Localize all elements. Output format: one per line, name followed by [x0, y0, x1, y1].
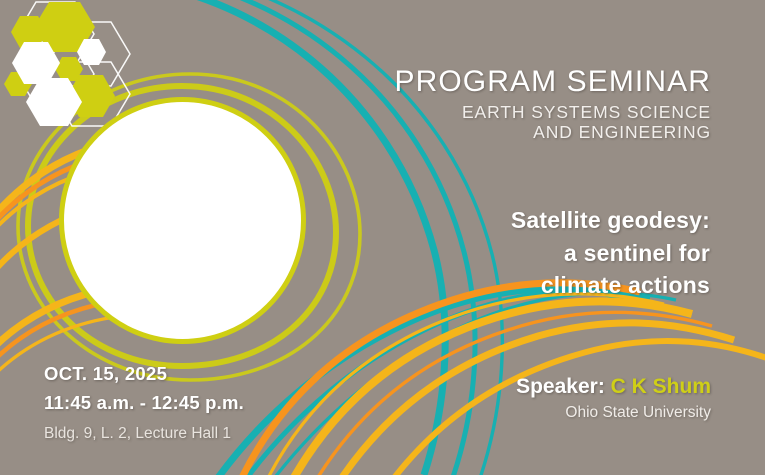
header-block: PROGRAM SEMINAR EARTH SYSTEMS SCIENCE AN…: [291, 66, 711, 142]
department-line-2: AND ENGINEERING: [291, 122, 711, 142]
talk-title-line-2: a sentinel for: [290, 237, 710, 270]
speaker-label: Speaker:: [516, 375, 605, 398]
event-info-block: OCT. 15, 2025 11:45 a.m. - 12:45 p.m. Bl…: [44, 362, 374, 445]
event-date: OCT. 15, 2025: [44, 362, 374, 387]
speaker-name: C K Shum: [611, 375, 711, 398]
department-line-1: EARTH SYSTEMS SCIENCE: [291, 102, 711, 122]
talk-title-block: Satellite geodesy: a sentinel for climat…: [290, 204, 710, 302]
event-time: 11:45 a.m. - 12:45 p.m.: [44, 391, 374, 416]
speaker-portrait-frame: [59, 97, 306, 344]
seminar-poster: PROGRAM SEMINAR EARTH SYSTEMS SCIENCE AN…: [0, 0, 765, 475]
talk-title-line-1: Satellite geodesy:: [290, 204, 710, 237]
portrait-ring: [59, 97, 306, 344]
program-seminar-title: PROGRAM SEMINAR: [291, 66, 711, 98]
talk-title-line-3: climate actions: [290, 269, 710, 302]
event-location: Bldg. 9, L. 2, Lecture Hall 1: [44, 424, 374, 445]
